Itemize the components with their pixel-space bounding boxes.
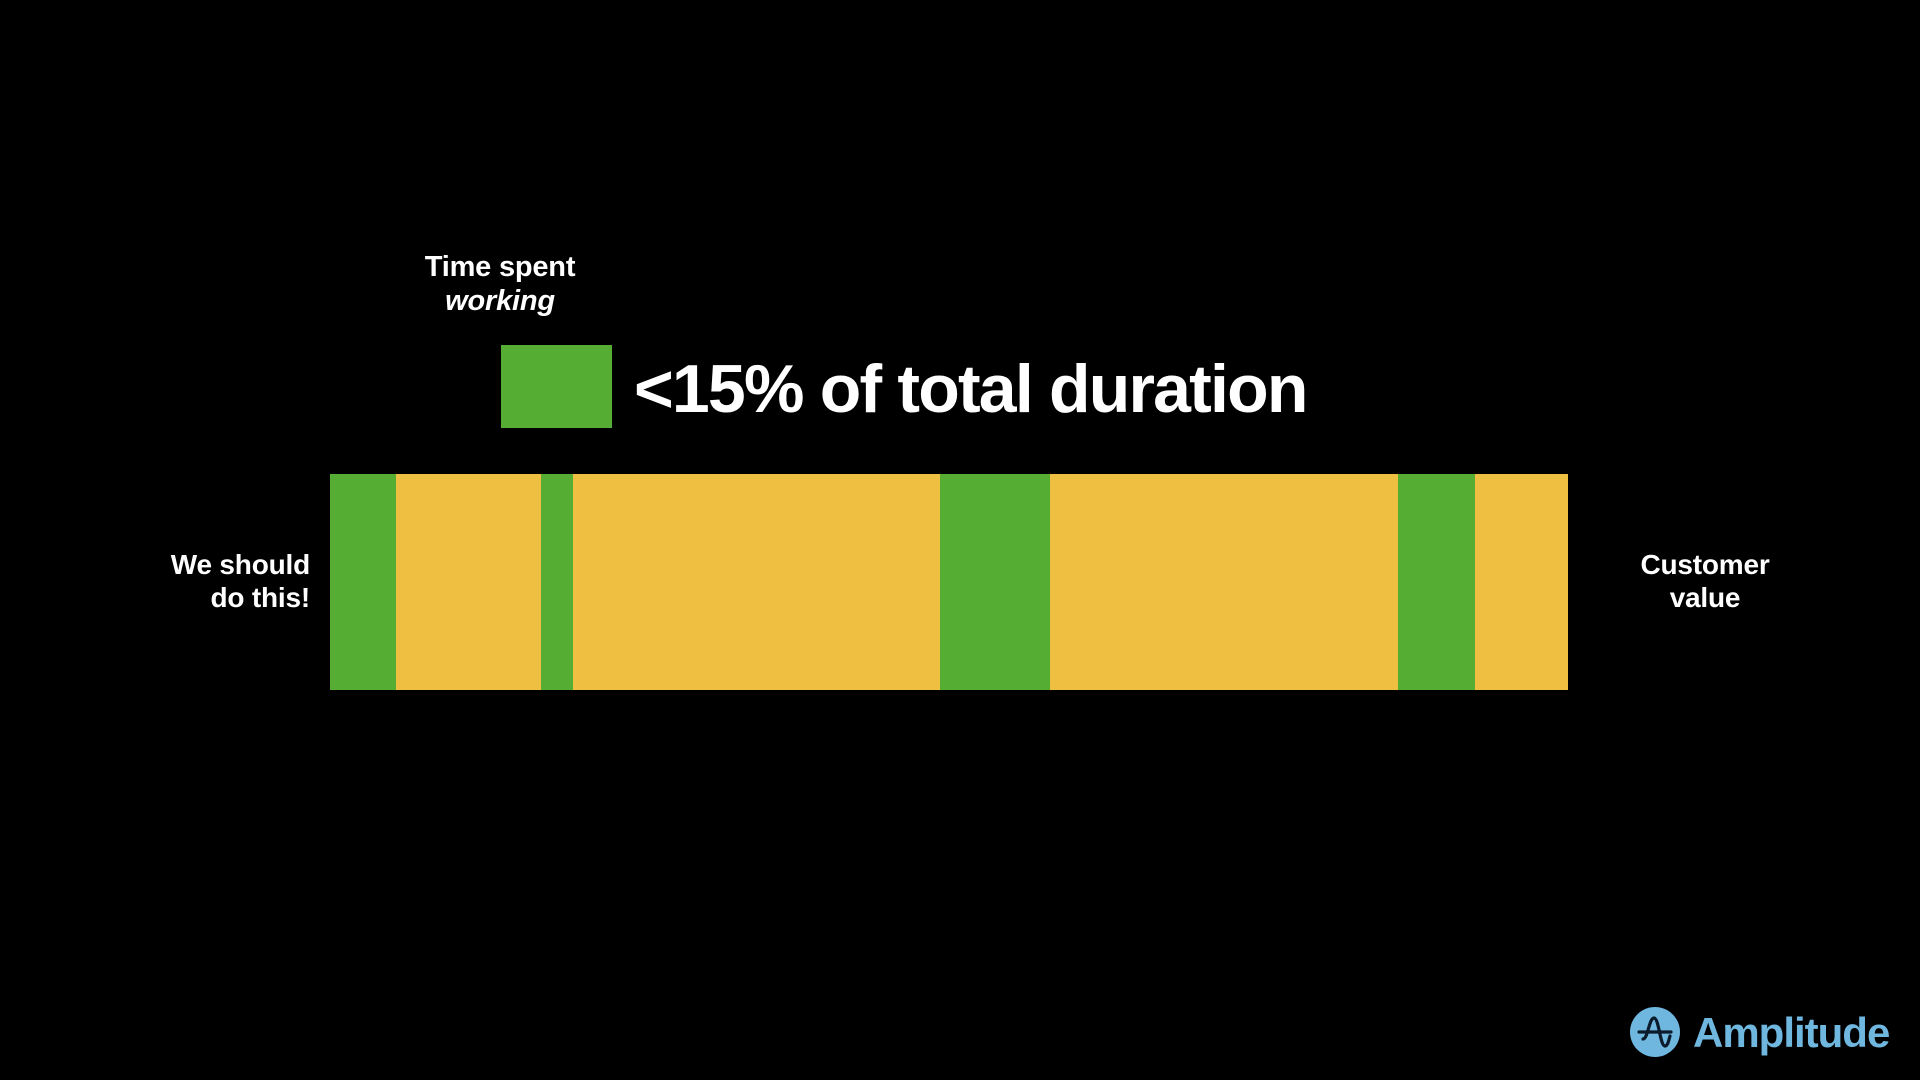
slide-canvas: Time spent working <15% of total duratio… xyxy=(0,0,1920,1080)
legend-caption: Time spent working xyxy=(380,250,620,318)
legend-row: <15% of total duration xyxy=(501,345,1307,428)
headline-text: <15% of total duration xyxy=(634,355,1307,423)
timeline-segment-waiting xyxy=(1475,474,1568,690)
timeline-segment-waiting xyxy=(1050,474,1398,690)
legend-caption-line2: working xyxy=(380,284,620,318)
timeline-bar-track xyxy=(330,474,1568,690)
timeline-segment-working xyxy=(940,474,1050,690)
timeline-segment-waiting xyxy=(573,474,940,690)
label-start: We should do this! xyxy=(60,548,310,614)
label-start-line1: We should xyxy=(60,548,310,581)
timeline-bar xyxy=(330,474,1568,690)
timeline-segment-waiting xyxy=(396,474,541,690)
amplitude-logo-mark xyxy=(1629,1006,1681,1058)
label-end: Customer value xyxy=(1590,548,1820,614)
timeline-segment-working xyxy=(541,474,573,690)
label-end-line2: value xyxy=(1590,581,1820,614)
legend-caption-line1: Time spent xyxy=(380,250,620,284)
amplitude-wordmark: Amplitude xyxy=(1693,1012,1889,1054)
timeline-segment-working xyxy=(1398,474,1475,690)
amplitude-logo: Amplitude xyxy=(1629,1006,1889,1058)
label-end-line1: Customer xyxy=(1590,548,1820,581)
timeline-segment-working xyxy=(330,474,396,690)
label-start-line2: do this! xyxy=(60,581,310,614)
green-swatch xyxy=(501,345,612,428)
legend-block: Time spent working <15% of total duratio… xyxy=(0,250,1920,440)
